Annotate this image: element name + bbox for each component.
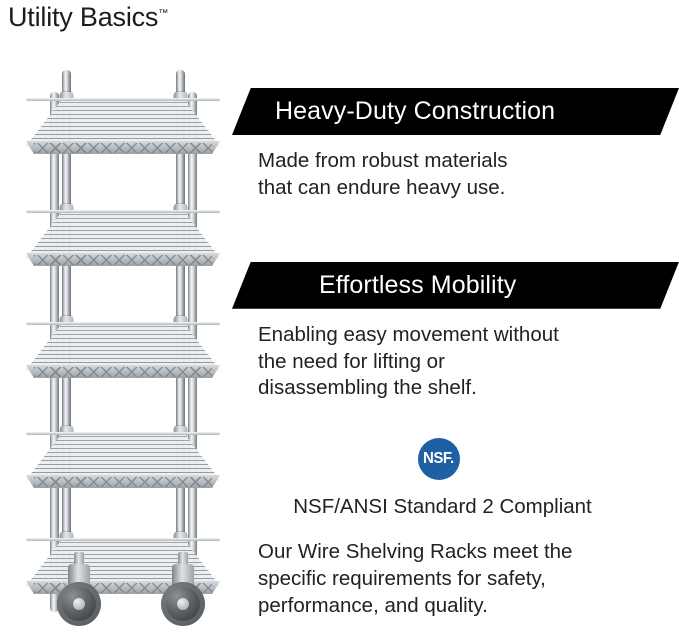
- trademark-symbol: ™: [158, 8, 168, 19]
- shelf-tier: [26, 98, 220, 154]
- brand-name: Utility Basics: [8, 2, 158, 32]
- shelf-tier: [26, 432, 220, 488]
- feature-body-effortless-mobility: Enabling easy movement without the need …: [258, 322, 658, 403]
- shelf-tier: [26, 322, 220, 378]
- feature-content-column: Heavy-Duty Construction Made from robust…: [232, 0, 679, 644]
- feature-banner-label: Effortless Mobility: [319, 271, 516, 300]
- caster-wheel: [56, 564, 102, 626]
- feature-banner-label: Heavy-Duty Construction: [275, 97, 555, 126]
- certification-caption: NSF/ANSI Standard 2 Compliant: [232, 494, 679, 521]
- shelf-tier: [26, 210, 220, 266]
- nsf-certification-icon: NSF.: [418, 438, 460, 480]
- feature-body-heavy-duty-construction: Made from robust materials that can endu…: [258, 148, 658, 202]
- caster-wheel: [160, 564, 206, 626]
- feature-banner-effortless-mobility: Effortless Mobility: [232, 262, 679, 309]
- nsf-badge-label: NSF.: [423, 450, 454, 468]
- wire-shelving-rack: [48, 70, 198, 626]
- brand-wordmark: Utility Basics™: [8, 2, 168, 33]
- product-image: [0, 58, 232, 644]
- certification-body: Our Wire Shelving Racks meet the specifi…: [258, 539, 658, 620]
- feature-banner-heavy-duty-construction: Heavy-Duty Construction: [232, 88, 679, 135]
- nsf-badge-wrapper: NSF.: [232, 438, 679, 480]
